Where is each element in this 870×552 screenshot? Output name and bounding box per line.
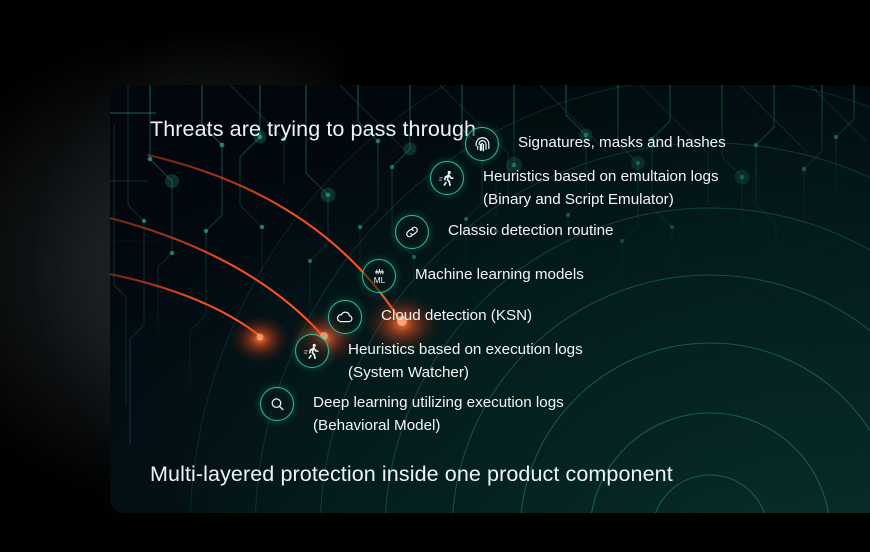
layer-row-cloud-detection[interactable]: Cloud detection (KSN) — [328, 300, 532, 334]
layer-label-line1: Heuristics based on emultaion logs — [483, 168, 719, 185]
layer-label-line1: Classic detection routine — [448, 222, 613, 239]
headline-text: Threats are trying to pass through — [150, 117, 476, 142]
layer-row-deep-learning[interactable]: Deep learning utilizing execution logs (… — [260, 387, 564, 437]
chain-link-icon — [395, 215, 429, 249]
layer-row-machine-learning[interactable]: ML Machine learning models — [362, 259, 584, 293]
running-person-icon — [430, 161, 464, 195]
layer-label-line1: Machine learning models — [415, 266, 584, 283]
illustration-stage: Threats are trying to pass through — [0, 0, 870, 552]
fingerprint-icon — [465, 127, 499, 161]
layer-label-line1: Cloud detection (KSN) — [381, 307, 532, 324]
layer-label-line2: (Behavioral Model) — [313, 415, 564, 438]
svg-text:ML: ML — [373, 276, 385, 285]
layer-row-emulation-heuristics[interactable]: Heuristics based on emultaion logs (Bina… — [430, 161, 719, 211]
layer-label-line2: (Binary and Script Emulator) — [483, 189, 719, 212]
layer-label-line1: Deep learning utilizing execution logs — [313, 394, 564, 411]
footer-text: Multi-layered protection inside one prod… — [150, 462, 673, 487]
machine-learning-icon: ML — [362, 259, 396, 293]
layer-label-line1: Signatures, masks and hashes — [518, 134, 726, 151]
protection-panel: Threats are trying to pass through — [110, 85, 870, 513]
running-person-icon — [295, 334, 329, 368]
layer-label-line2: (System Watcher) — [348, 362, 583, 385]
layer-row-classic-detection[interactable]: Classic detection routine — [395, 215, 613, 249]
cloud-icon — [328, 300, 362, 334]
layer-row-execution-heuristics[interactable]: Heuristics based on execution logs (Syst… — [295, 334, 583, 384]
magnifier-icon — [260, 387, 294, 421]
layer-label-line1: Heuristics based on execution logs — [348, 341, 583, 358]
layer-row-signatures[interactable]: Signatures, masks and hashes — [465, 127, 726, 161]
